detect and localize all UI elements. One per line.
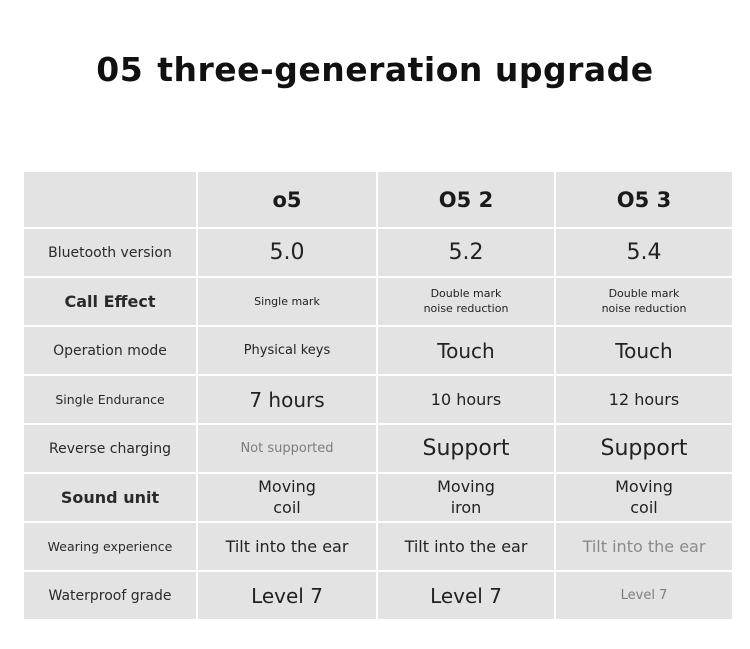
cell-reverse-charging-o5: Not supported [198,425,376,472]
cell-call-effect-o5: Single mark [198,278,376,325]
row-label-sound-unit: Sound unit [24,474,196,521]
comparison-table: o5 O5 2 O5 3 Bluetooth version 5.0 5.2 5… [22,170,734,621]
cell-single-endurance-o5-2: 10 hours [378,376,554,423]
table-row: Single Endurance 7 hours 10 hours 12 hou… [24,376,732,423]
cell-operation-mode-o5-3: Touch [556,327,732,374]
table-row: Operation mode Physical keys Touch Touch [24,327,732,374]
row-label-call-effect: Call Effect [24,278,196,325]
cell-reverse-charging-o5-3: Support [556,425,732,472]
row-label-operation-mode: Operation mode [24,327,196,374]
cell-wearing-experience-o5-3: Tilt into the ear [556,523,732,570]
table-row: Sound unit Movingcoil Movingiron Movingc… [24,474,732,521]
page-title: 05three-generation upgrade [0,50,750,89]
cell-waterproof-grade-o5-2: Level 7 [378,572,554,619]
cell-sound-unit-o5-3: Movingcoil [556,474,732,521]
cell-wearing-experience-o5-2: Tilt into the ear [378,523,554,570]
table-row: Waterproof grade Level 7 Level 7 Level 7 [24,572,732,619]
row-label-bluetooth-version: Bluetooth version [24,229,196,276]
row-label-wearing-experience: Wearing experience [24,523,196,570]
row-label-reverse-charging: Reverse charging [24,425,196,472]
cell-operation-mode-o5: Physical keys [198,327,376,374]
table-header-row: o5 O5 2 O5 3 [24,172,732,227]
cell-wearing-experience-o5: Tilt into the ear [198,523,376,570]
header-cell-o5: o5 [198,172,376,227]
cell-single-endurance-o5: 7 hours [198,376,376,423]
header-cell-blank [24,172,196,227]
table-row: Call Effect Single mark Double marknoise… [24,278,732,325]
table-row: Wearing experience Tilt into the ear Til… [24,523,732,570]
page-title-text: three-generation upgrade [157,50,653,89]
cell-call-effect-o5-2: Double marknoise reduction [378,278,554,325]
cell-sound-unit-o5-2: Movingiron [378,474,554,521]
table-row: Bluetooth version 5.0 5.2 5.4 [24,229,732,276]
cell-call-effect-o5-3: Double marknoise reduction [556,278,732,325]
header-cell-o5-3: O5 3 [556,172,732,227]
cell-bluetooth-version-o5-3: 5.4 [556,229,732,276]
cell-bluetooth-version-o5: 5.0 [198,229,376,276]
cell-sound-unit-o5: Movingcoil [198,474,376,521]
cell-operation-mode-o5-2: Touch [378,327,554,374]
row-label-single-endurance: Single Endurance [24,376,196,423]
cell-single-endurance-o5-3: 12 hours [556,376,732,423]
cell-waterproof-grade-o5: Level 7 [198,572,376,619]
cell-reverse-charging-o5-2: Support [378,425,554,472]
cell-bluetooth-version-o5-2: 5.2 [378,229,554,276]
cell-waterproof-grade-o5-3: Level 7 [556,572,732,619]
row-label-waterproof-grade: Waterproof grade [24,572,196,619]
table-row: Reverse charging Not supported Support S… [24,425,732,472]
header-cell-o5-2: O5 2 [378,172,554,227]
page-title-number: 05 [96,50,143,89]
